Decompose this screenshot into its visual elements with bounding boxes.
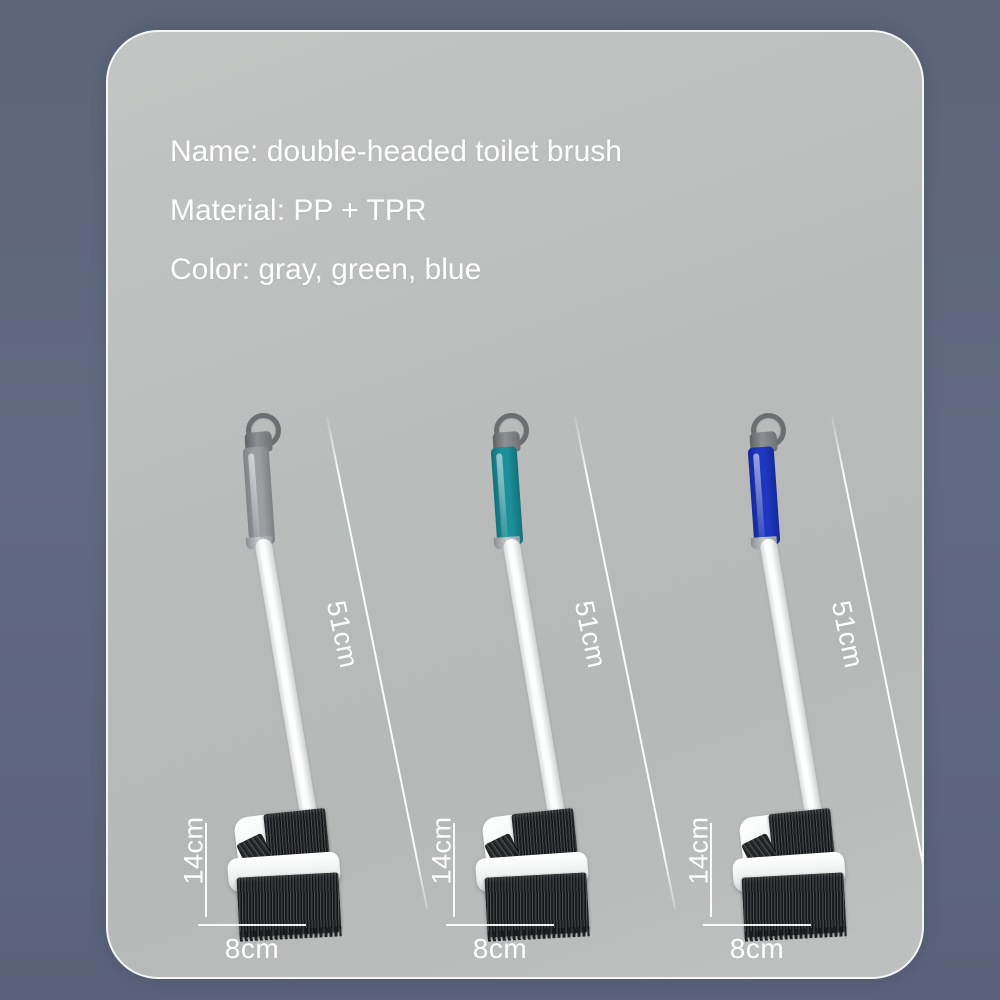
dimension-label-width: 8cm xyxy=(703,933,811,965)
brush-pole xyxy=(759,538,825,837)
dimension-rule-width xyxy=(446,924,554,926)
brush-pole xyxy=(502,538,568,837)
product-variant-blue[interactable]: 51cm 14cm 8cm xyxy=(663,387,913,947)
bristle-pad-lower xyxy=(484,872,589,937)
brush-head xyxy=(723,807,863,937)
dimension-label-width: 8cm xyxy=(198,933,306,965)
dimension-label-height: 14cm xyxy=(427,816,458,884)
dimension-label-width: 8cm xyxy=(446,933,554,965)
spec-line-color: Color: gray, green, blue xyxy=(170,255,870,285)
product-spec-card: Name: double-headed toilet brush Materia… xyxy=(106,30,924,979)
handle-grip-green xyxy=(491,446,524,546)
handle-grip-gray xyxy=(243,446,276,546)
spec-line-material: Material: PP + TPR xyxy=(170,196,870,226)
handle-grip-blue xyxy=(748,446,781,546)
spec-line-name: Name: double-headed toilet brush xyxy=(170,137,870,167)
product-variant-gray[interactable]: 51cm 14cm 8cm xyxy=(158,387,408,947)
dimension-label-height: 14cm xyxy=(684,816,715,884)
dimension-rule-width xyxy=(703,924,811,926)
bristle-pad-lower xyxy=(236,872,341,937)
brush-head xyxy=(218,807,358,937)
specification-list: Name: double-headed toilet brush Materia… xyxy=(170,137,870,314)
product-variant-green[interactable]: 51cm 14cm 8cm xyxy=(406,387,656,947)
dimension-label-height: 14cm xyxy=(179,816,210,884)
bristle-pad-lower xyxy=(741,872,846,937)
brush-head xyxy=(466,807,606,937)
dimension-rule-width xyxy=(198,924,306,926)
brush-pole xyxy=(254,538,320,837)
